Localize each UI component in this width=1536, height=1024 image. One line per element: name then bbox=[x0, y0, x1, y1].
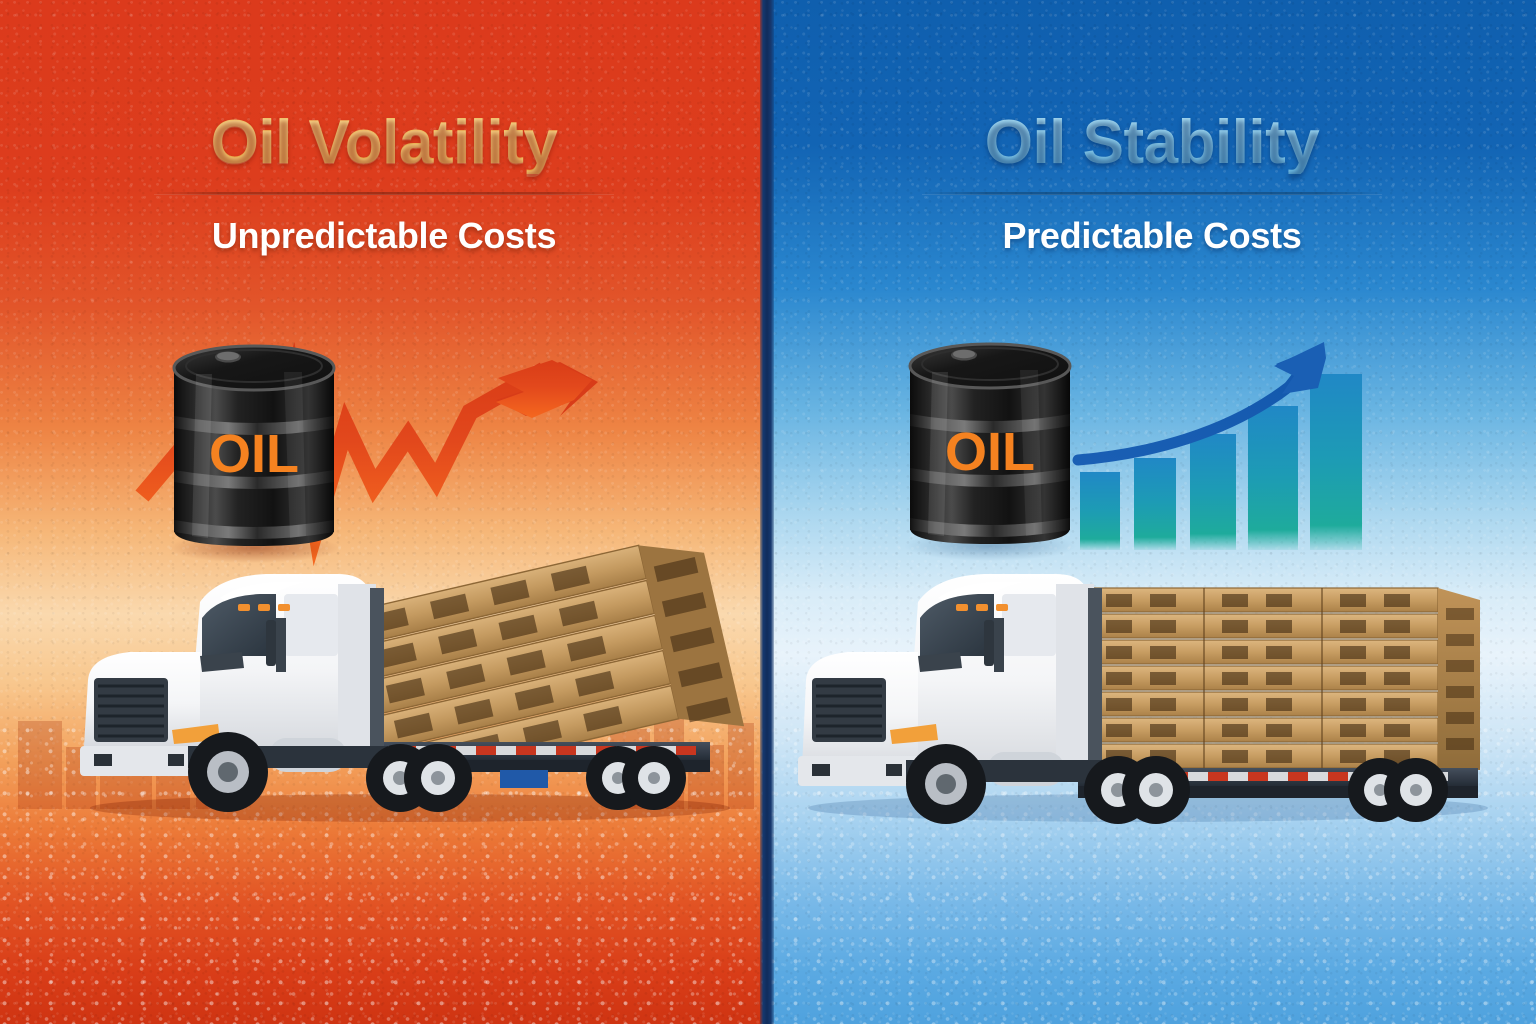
page-subtitle-stability: Predictable Costs bbox=[768, 215, 1536, 257]
roof-marker-lights-left bbox=[238, 604, 290, 611]
flatbed-truck-left bbox=[70, 560, 730, 835]
pallet-stack-right bbox=[1088, 588, 1480, 770]
oil-barrel-label-right: OIL bbox=[945, 422, 1035, 482]
page-title-volatility: Oil Volatility bbox=[0, 112, 768, 174]
side-mirror-right bbox=[994, 618, 1004, 672]
oil-barrel-label-left: OIL bbox=[209, 424, 299, 484]
side-mirror-left bbox=[276, 618, 286, 672]
panel-oil-volatility: Oil Volatility Unpredictable Costs bbox=[0, 0, 768, 1024]
grille-left bbox=[94, 678, 168, 742]
comparison-infographic: Oil Volatility Unpredictable Costs bbox=[0, 0, 1536, 1024]
panel-right-title-block: Oil Stability Predictable Costs bbox=[768, 112, 1536, 257]
panel-divider bbox=[760, 0, 774, 1024]
oil-barrel-left: OIL bbox=[166, 342, 342, 558]
page-title-stability: Oil Stability bbox=[768, 112, 1536, 174]
bar-5 bbox=[1310, 374, 1362, 550]
bar-4 bbox=[1248, 406, 1298, 550]
roof-marker-lights-right bbox=[956, 604, 1008, 611]
panel-oil-stability: Oil Stability Predictable Costs bbox=[768, 0, 1536, 1024]
title-divider-rule-right bbox=[922, 192, 1382, 195]
oil-barrel-right: OIL bbox=[902, 340, 1078, 556]
flatbed-truck-right bbox=[788, 560, 1488, 835]
bar-series bbox=[1080, 374, 1362, 550]
bar-2 bbox=[1134, 458, 1176, 550]
title-divider-rule-left bbox=[154, 192, 614, 195]
page-subtitle-volatility: Unpredictable Costs bbox=[0, 215, 768, 257]
panel-left-title-block: Oil Volatility Unpredictable Costs bbox=[0, 112, 768, 257]
stability-growth-chart bbox=[1078, 330, 1398, 560]
bar-1 bbox=[1080, 472, 1120, 550]
bar-3 bbox=[1190, 434, 1236, 550]
grille-right bbox=[812, 678, 886, 742]
